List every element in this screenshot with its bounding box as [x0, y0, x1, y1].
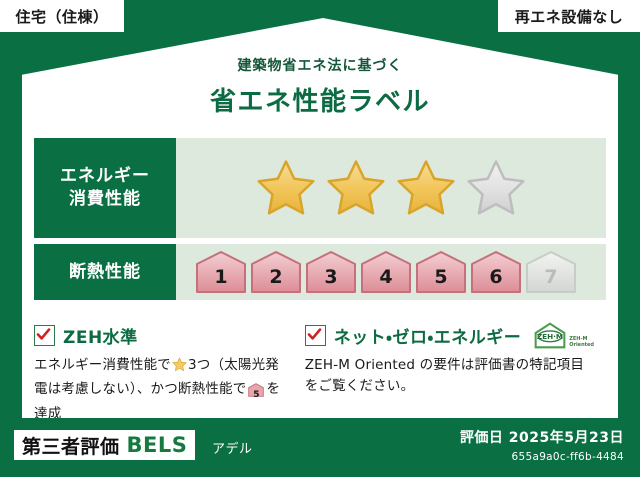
insulation-level-inactive: 7 — [524, 249, 578, 295]
insulation-level-number: 7 — [524, 266, 578, 288]
building-type-tag: 住宅（住棟） — [0, 0, 124, 32]
net-zero-energy-body: ZEH-M Oriented の要件は評価書の特記項目をご覧ください。 — [305, 355, 594, 397]
checkbox-checked-icon — [34, 325, 55, 346]
energy-consumption-label: エネルギー 消費性能 — [34, 138, 176, 238]
energy-label-line1: エネルギー — [60, 165, 150, 188]
zeh-standard-title: ZEH水準 — [63, 323, 138, 348]
svg-text:ZEH·M: ZEH·M — [537, 331, 563, 340]
insulation-level-active: 1 — [194, 249, 248, 295]
zeh-standard-section: ZEH水準 エネルギー消費性能で3つ（太陽光発電は考慮しない）、かつ断熱性能で5… — [34, 322, 297, 408]
net-zero-energy-header: ネット・ゼロ・エネルギー ZEH·M ZEH-M Oriented — [305, 322, 594, 348]
insulation-level-number: 2 — [249, 266, 303, 288]
inline-star-icon — [172, 360, 187, 376]
insulation-level-active: 2 — [249, 249, 303, 295]
insulation-level-active: 5 — [414, 249, 468, 295]
insulation-scale: 1234567 — [176, 244, 606, 300]
inline-house-icon: 5 — [248, 383, 264, 404]
insulation-level-active: 3 — [304, 249, 358, 295]
inline-house-number: 5 — [248, 389, 264, 403]
renewable-equipment-tag: 再エネ設備なし — [498, 0, 640, 32]
certification-checks: ZEH水準 エネルギー消費性能で3つ（太陽光発電は考慮しない）、かつ断熱性能で5… — [34, 322, 606, 408]
zeh-m-caption-line2: Oriented — [569, 342, 594, 348]
star-empty-icon — [465, 158, 527, 218]
evaluation-info: 評価日 2025年5月23日 655a9a0c-ff6b-4484 — [460, 427, 624, 463]
zeh-m-logo-caption: ZEH-M Oriented — [569, 337, 594, 349]
net-zero-energy-title: ネット・ゼロ・エネルギー — [334, 323, 522, 348]
bels-en-text: BELS — [127, 433, 188, 457]
checkbox-checked-icon — [305, 325, 326, 346]
zeh-standard-header: ZEH水準 — [34, 322, 285, 348]
insulation-level-number: 4 — [359, 266, 413, 288]
title-main: 省エネ性能ラベル — [0, 81, 640, 118]
star-filled-icon — [325, 158, 387, 218]
building-type-text: 住宅（住棟） — [15, 6, 108, 27]
bels-badge: 第三者評価 BELS — [14, 430, 195, 460]
renewable-equipment-text: 再エネ設備なし — [515, 6, 624, 27]
insulation-label-text: 断熱性能 — [69, 261, 141, 284]
label-title: 建築物省エネ法に基づく 省エネ性能ラベル — [0, 55, 640, 118]
star-filled-icon — [255, 158, 317, 218]
insulation-label: 断熱性能 — [34, 244, 176, 300]
zeh-body-part1: エネルギー消費性能で — [34, 357, 171, 373]
evaluation-date: 評価日 2025年5月23日 — [460, 427, 624, 447]
energy-label-line2: 消費性能 — [69, 188, 141, 211]
star-filled-icon — [395, 158, 457, 218]
insulation-level-number: 5 — [414, 266, 468, 288]
zeh-m-oriented-logo: ZEH·M ZEH-M Oriented — [533, 322, 594, 349]
energy-consumption-row: エネルギー 消費性能 — [34, 138, 606, 238]
evaluation-id: 655a9a0c-ff6b-4484 — [460, 451, 624, 463]
insulation-level-active: 4 — [359, 249, 413, 295]
net-zero-energy-section: ネット・ゼロ・エネルギー ZEH·M ZEH-M Oriented ZEH-M … — [297, 322, 606, 408]
insulation-level-number: 1 — [194, 266, 248, 288]
owner-name: アデル — [212, 438, 253, 457]
bels-jp-text: 第三者評価 — [22, 432, 120, 459]
insulation-level-number: 3 — [304, 266, 358, 288]
insulation-row: 断熱性能 1234567 — [34, 244, 606, 300]
label-footer: 第三者評価 BELS アデル 評価日 2025年5月23日 655a9a0c-f… — [0, 418, 640, 477]
insulation-level-number: 6 — [469, 266, 523, 288]
title-subtitle: 建築物省エネ法に基づく — [0, 55, 640, 75]
zeh-standard-body: エネルギー消費性能で3つ（太陽光発電は考慮しない）、かつ断熱性能で5を達成 — [34, 355, 285, 425]
insulation-level-active: 6 — [469, 249, 523, 295]
energy-star-rating — [176, 138, 606, 238]
energy-performance-label: 住宅（住棟） 再エネ設備なし 建築物省エネ法に基づく 省エネ性能ラベル エネルギ… — [0, 0, 640, 477]
